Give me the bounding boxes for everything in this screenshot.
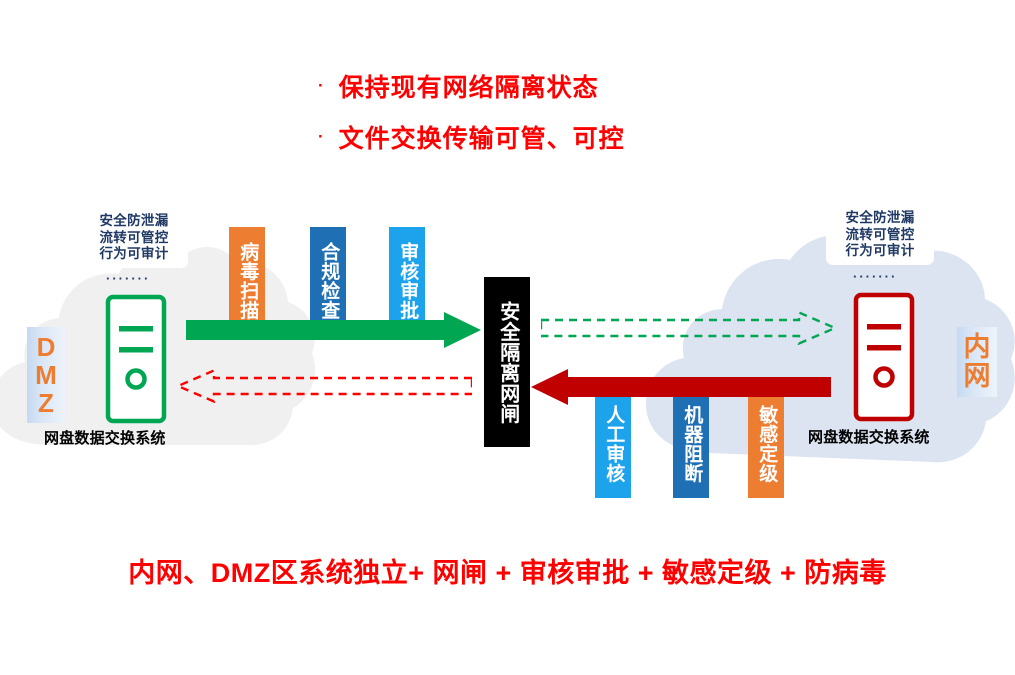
control-bar-label: 敏感定级 xyxy=(755,405,777,483)
control-bar-sensitivity-grading[interactable]: 敏感定级 xyxy=(748,390,784,498)
dmz-server-icon xyxy=(105,294,167,429)
flow-gateway-to-intranet-arrow xyxy=(541,311,837,345)
bullet-list: · 保持现有网络隔离状态 · 文件交换传输可管、可控 xyxy=(318,76,738,178)
security-gateway-label: 安全隔离网闸 xyxy=(495,301,518,424)
dmz-callout-line: 流转可管控 xyxy=(84,230,184,247)
summary-footer-text: 内网、DMZ区系统独立+ 网闸 + 审核审批 + 敏感定级 + 防病毒 xyxy=(0,551,1015,590)
intranet-node-caption: 网盘数据交换系统 xyxy=(808,426,930,447)
control-bar-label: 合规检查 xyxy=(317,242,339,320)
control-bar-machine-block[interactable]: 机器阻断 xyxy=(673,390,709,498)
flow-dmz-to-gateway-arrow xyxy=(186,312,481,348)
bullet-marker-icon: · xyxy=(318,77,325,94)
flow-intranet-to-gateway-arrow xyxy=(531,369,831,405)
dmz-zone-char: D xyxy=(37,333,56,361)
intranet-server-icon xyxy=(853,292,915,427)
bullet-item: · 文件交换传输可管、可控 xyxy=(318,127,738,152)
bullet-text: 文件交换传输可管、可控 xyxy=(339,127,625,152)
control-bar-label: 审核审批 xyxy=(396,242,418,320)
dmz-zone-label: D M Z xyxy=(27,327,65,423)
control-bar-label: 病毒扫描 xyxy=(236,242,258,320)
intranet-zone-char: 内 xyxy=(964,333,991,362)
flow-gateway-to-dmz-arrow xyxy=(176,369,472,403)
intranet-callout: 安全防泄漏 流转可管控 行为可审计 xyxy=(826,204,934,265)
dmz-callout-line: 行为可审计 xyxy=(84,246,184,263)
control-bar-manual-review[interactable]: 人工审核 xyxy=(595,390,631,498)
intranet-callout-line: 安全防泄漏 xyxy=(830,210,930,227)
dmz-zone-char: Z xyxy=(38,389,54,417)
intranet-zone-label: 内 网 xyxy=(957,327,997,397)
intranet-callout-line: 流转可管控 xyxy=(830,227,930,244)
control-bar-label: 人工审核 xyxy=(602,405,624,483)
dmz-zone-char: M xyxy=(35,361,57,389)
bullet-marker-icon: · xyxy=(318,128,325,145)
dmz-node-caption: 网盘数据交换系统 xyxy=(44,427,166,448)
dmz-callout: 安全防泄漏 流转可管控 行为可审计 xyxy=(80,207,188,268)
bullet-text: 保持现有网络隔离状态 xyxy=(339,76,599,101)
control-bar-label: 机器阻断 xyxy=(680,405,702,483)
bullet-item: · 保持现有网络隔离状态 xyxy=(318,76,738,101)
dmz-callout-tail-dots: ······· xyxy=(106,272,150,285)
intranet-callout-tail-dots: ······· xyxy=(853,270,897,283)
dmz-callout-line: 安全防泄漏 xyxy=(84,213,184,230)
security-gateway-node[interactable]: 安全隔离网闸 xyxy=(484,277,530,447)
intranet-zone-char: 网 xyxy=(964,362,991,391)
diagram-canvas: · 保持现有网络隔离状态 · 文件交换传输可管、可控 安全防泄漏 流转可管控 行… xyxy=(0,0,1015,675)
intranet-callout-line: 行为可审计 xyxy=(830,243,930,260)
